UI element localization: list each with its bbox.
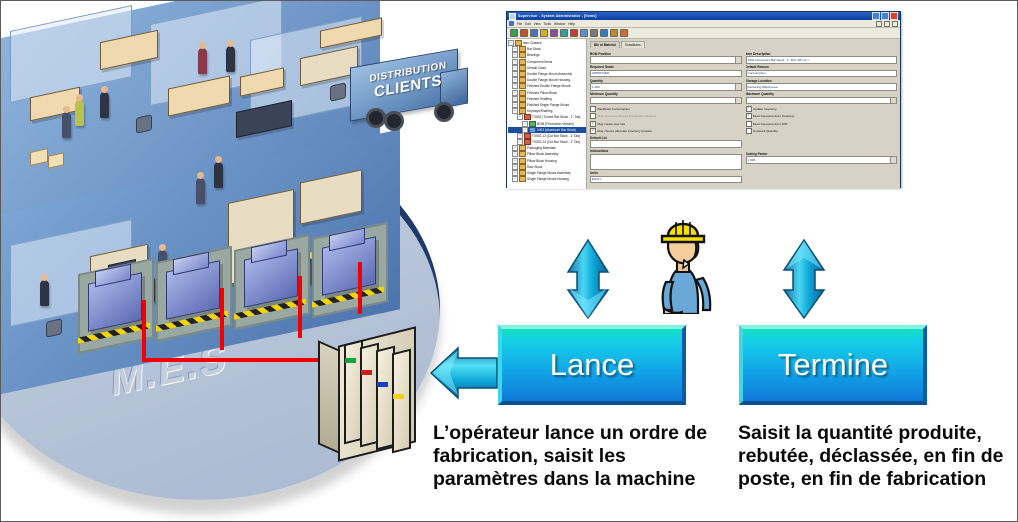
- tree-expander-icon[interactable]: +: [512, 52, 518, 58]
- tree-item-label: 1002 (Aluminum Bar Stock): [537, 128, 576, 132]
- toolbar-report-icon[interactable]: [610, 29, 618, 37]
- network-line-2: [220, 288, 224, 350]
- erp-menu-bar[interactable]: File Edit View Tools Window Help: [507, 20, 900, 28]
- launch-button[interactable]: Lance: [498, 325, 686, 405]
- tree-expander-icon[interactable]: +: [512, 158, 518, 164]
- tree-item-label: Finished Shafting: [527, 97, 552, 101]
- text-input[interactable]: 1002 (Aluminum Bar Stock - 1" DIA. 48' L…: [746, 56, 898, 64]
- menu-item-edit[interactable]: Edit: [525, 22, 531, 26]
- tree-expander-icon[interactable]: +: [512, 65, 518, 71]
- maximize-icon[interactable]: [881, 12, 889, 20]
- field-label: Units: [590, 171, 742, 175]
- caption-finish: Saisit la quantité produite, rebutée, dé…: [738, 422, 1016, 491]
- spinner-icon[interactable]: [735, 84, 741, 90]
- toolbar-print-icon[interactable]: [540, 29, 548, 37]
- menu-item-help[interactable]: Help: [568, 22, 575, 26]
- tab-substitutes[interactable]: Substitutes: [621, 41, 645, 48]
- input-value: APPROVED: [592, 71, 609, 75]
- tree-expander-icon[interactable]: +: [512, 145, 518, 151]
- text-input[interactable]: 1.000: [746, 156, 898, 164]
- tree-expander-icon[interactable]: +: [517, 139, 523, 145]
- tree-item-label: TX502-24 (Cut Bar Stock - 1" Dia): [532, 140, 580, 144]
- tree-expander-icon[interactable]: +: [512, 108, 518, 114]
- folder-icon: [519, 71, 526, 77]
- folder-icon: [519, 65, 526, 71]
- text-input[interactable]: [590, 97, 742, 105]
- checkbox-icon[interactable]: [746, 128, 752, 134]
- folder-icon: [519, 102, 526, 108]
- bom-icon: [529, 121, 536, 127]
- form-spacer: [746, 134, 898, 150]
- server-led-green: [345, 358, 356, 363]
- text-input[interactable]: Receiving Warehouse: [746, 83, 898, 91]
- toolbar-help-icon[interactable]: [620, 29, 628, 37]
- checkbox-row[interactable]: ✓Update Inventory: [746, 106, 898, 112]
- menu-app-icon: [509, 21, 514, 26]
- field-label: Minimum Quantity: [590, 92, 742, 96]
- bom-detail-form: Bill of Material Substitutes BOM Positio…: [587, 39, 900, 189]
- tree-item-label: Raw Stock: [527, 165, 542, 169]
- checkbox-icon[interactable]: [746, 121, 752, 127]
- checkbox-label: Must Consume Before Production Allowed: [598, 114, 656, 118]
- person-office-1: [198, 48, 207, 74]
- menu-item-window[interactable]: Window: [554, 22, 565, 26]
- tree-expander-icon[interactable]: +: [512, 90, 518, 96]
- folder-icon: [519, 108, 526, 114]
- tree-expander-icon[interactable]: +: [512, 83, 518, 89]
- field-label: Scaling Factor: [746, 152, 898, 156]
- arrow-down-icon: [566, 238, 610, 320]
- tree-item-label: Component Items: [527, 60, 552, 64]
- tree-expander-icon[interactable]: +: [512, 102, 518, 108]
- truck-wheel-3: [434, 102, 454, 122]
- text-input[interactable]: [590, 154, 742, 170]
- tree-item-label: Default Class: [527, 66, 546, 70]
- tree-expander-icon[interactable]: +: [517, 133, 523, 139]
- network-line-4: [358, 262, 362, 314]
- worker-operator-icon: [648, 202, 718, 314]
- arrow-left-icon: [428, 344, 500, 402]
- toolbar-open-icon[interactable]: [520, 29, 528, 37]
- minimize-icon[interactable]: [872, 12, 880, 20]
- folder-icon: [519, 145, 526, 151]
- component-icon: [529, 127, 536, 133]
- server-led-blue: [377, 382, 388, 387]
- server-blade-4: [392, 349, 411, 454]
- tree-expander-icon[interactable]: +: [512, 59, 518, 65]
- mdi-close-icon[interactable]: [892, 21, 898, 27]
- checkbox-row[interactable]: ✓May choose alternate inventory location: [590, 128, 742, 134]
- checkbox-icon[interactable]: ✓: [590, 128, 596, 134]
- folder-icon: [515, 40, 522, 46]
- toolbar-new-icon[interactable]: [510, 29, 518, 37]
- tree-item-label: TX502 (Turned Bar Stock - 1" Dia): [532, 115, 581, 119]
- checkbox-icon[interactable]: ✓: [590, 121, 596, 127]
- spinner-icon[interactable]: [735, 98, 741, 104]
- folder-icon: [519, 96, 526, 102]
- spinner-icon[interactable]: [890, 157, 896, 163]
- text-input[interactable]: Consumption: [746, 70, 898, 78]
- person-production-8: [214, 162, 223, 188]
- network-line-1: [142, 300, 146, 362]
- truck-wheel-1: [366, 108, 386, 128]
- field-label: Default Reason: [746, 65, 898, 69]
- erp-title-text: Supervisor - System Administrator - [Ite…: [518, 14, 597, 18]
- input-value: EACH: [592, 177, 601, 181]
- erp-content-area: +Item Classes+Bar Stock+Bearings+Compone…: [507, 39, 900, 189]
- item-icon: [524, 114, 531, 120]
- spinner-icon[interactable]: [735, 57, 741, 63]
- tree-expander-icon[interactable]: +: [512, 77, 518, 83]
- field-label: Quantity: [590, 79, 742, 83]
- folder-icon: [519, 158, 526, 164]
- toolbar-find-icon[interactable]: [580, 29, 588, 37]
- tree-item-label: Bar Stock: [527, 47, 541, 51]
- item-icon: [524, 133, 531, 139]
- erp-application-window[interactable]: Supervisor - System Administrator - [Ite…: [506, 11, 901, 188]
- folder-icon: [519, 59, 526, 65]
- folder-icon: [519, 176, 526, 182]
- folder-icon: [519, 83, 526, 89]
- close-icon[interactable]: [890, 12, 898, 20]
- checkbox-icon[interactable]: [590, 113, 596, 119]
- toolbar-grid-icon[interactable]: [600, 29, 608, 37]
- item-icon: [524, 139, 531, 145]
- tree-item-label: Packaging Materials: [527, 146, 556, 150]
- server-led-red: [361, 370, 372, 375]
- tree-item-label: Finished Single Flange Mount: [527, 103, 569, 107]
- caption-launch: L’opérateur lance un ordre de fabricatio…: [433, 422, 723, 491]
- input-value: Receiving Warehouse: [748, 85, 778, 89]
- mdi-restore-icon[interactable]: [884, 21, 890, 27]
- text-input[interactable]: APPROVED: [590, 70, 742, 78]
- person-office-2: [226, 46, 235, 72]
- menu-item-file[interactable]: File: [517, 22, 522, 26]
- form-columns: BOM PositionRequired GradeAPPROVEDQuanti…: [590, 50, 897, 183]
- truck-wheel-2: [384, 111, 404, 131]
- person-office-5: [100, 92, 109, 118]
- tree-expander-icon[interactable]: +: [512, 176, 518, 182]
- mdi-window-controls[interactable]: [876, 21, 898, 27]
- folder-icon: [519, 170, 526, 176]
- window-controls[interactable]: [872, 12, 898, 20]
- form-column-left: BOM PositionRequired GradeAPPROVEDQuanti…: [590, 50, 742, 183]
- tree-item-label: Pillow Block Housing: [527, 159, 557, 163]
- checkbox-row[interactable]: ✓May create new lots: [590, 121, 742, 127]
- person-production-7: [196, 178, 205, 204]
- tree-expander-icon[interactable]: +: [512, 71, 518, 77]
- toolbar-paste-icon[interactable]: [560, 29, 568, 37]
- field-label: Item Description: [746, 52, 898, 56]
- tree-expander-icon[interactable]: +: [512, 164, 518, 170]
- erp-toolbar[interactable]: [507, 28, 900, 39]
- checkbox-label: Must Consume from Inventory: [753, 114, 794, 118]
- tree-item-label: Finished Pillow Block: [527, 91, 557, 95]
- tree-expander-icon[interactable]: +: [522, 127, 528, 133]
- tree-expander-icon[interactable]: +: [512, 46, 518, 52]
- checkbox-row[interactable]: Must Consume from WIP: [746, 121, 898, 127]
- checkbox-row[interactable]: Must Consume Before Production Allowed: [590, 113, 742, 119]
- tree-item-label: BOM (Production Version): [537, 122, 574, 126]
- tree-item-label: Finished Double Flange Mount: [527, 84, 570, 88]
- checkbox-row[interactable]: ✓Must Consume from Inventory: [746, 113, 898, 119]
- tree-expander-icon[interactable]: +: [512, 151, 518, 157]
- tree-item-label: Keyways/Shafting: [527, 109, 552, 113]
- tree-item-label: Single Flange Mount Housing: [527, 177, 569, 181]
- tree-expander-icon[interactable]: +: [512, 170, 518, 176]
- checkbox-label: May create new lots: [598, 122, 626, 126]
- folder-icon: [519, 151, 526, 157]
- folder-icon: [519, 46, 526, 52]
- toolbar-refresh-icon[interactable]: [590, 29, 598, 37]
- input-value: 1.000: [592, 85, 600, 89]
- checkbox-label: Must Consume from WIP: [753, 122, 788, 126]
- tree-expander-icon[interactable]: +: [517, 114, 523, 120]
- tree-item[interactable]: +Single Flange Mount Housing: [508, 176, 586, 182]
- input-value: 1.000: [748, 158, 756, 162]
- field-label: Instructions: [590, 149, 742, 153]
- form-tab-strip[interactable]: Bill of Material Substitutes: [590, 41, 897, 48]
- checkbox-label: Update Inventory: [753, 107, 777, 111]
- toolbar-save-icon[interactable]: [530, 29, 538, 37]
- input-value: 1002 (Aluminum Bar Stock - 1" DIA. 48' L…: [748, 58, 809, 62]
- menu-item-tools[interactable]: Tools: [544, 22, 551, 26]
- tree-expander-icon[interactable]: +: [508, 40, 514, 46]
- item-class-tree[interactable]: +Item Classes+Bar Stock+Bearings+Compone…: [507, 39, 587, 189]
- field-label: Default Lot: [590, 136, 742, 140]
- checkbox-label: May choose alternate inventory location: [598, 129, 653, 133]
- arrow-up-icon: [782, 238, 826, 320]
- folder-icon: [519, 52, 526, 58]
- person-production-4: [40, 280, 49, 306]
- tree-expander-icon[interactable]: +: [522, 121, 528, 127]
- checkbox-row[interactable]: Backflush Consumption: [590, 106, 742, 112]
- network-line-3: [298, 276, 302, 338]
- input-value: Consumption: [748, 71, 766, 75]
- mes-factory-illustration: M.E.S: [0, 0, 470, 522]
- menu-item-view[interactable]: View: [534, 22, 541, 26]
- slide-canvas: M.E.S: [0, 0, 1018, 522]
- mes-server-rack: [318, 336, 414, 458]
- toolbar-copy-icon[interactable]: [550, 29, 558, 37]
- launch-button-label: Lance: [550, 347, 634, 383]
- text-input[interactable]: [590, 56, 742, 64]
- finish-button[interactable]: Termine: [739, 325, 927, 405]
- tree-item-label: TX502-12 (Cut Bar Stock - 1" Dia): [532, 134, 580, 138]
- person-office-3: [75, 100, 84, 126]
- checkbox-label: Constant Quantity: [753, 129, 778, 133]
- form-column-right: Item Description1002 (Aluminum Bar Stock…: [746, 50, 898, 183]
- field-label: Storage Location: [746, 79, 898, 83]
- server-led-yellow: [393, 394, 404, 399]
- field-label: Required Grade: [590, 65, 742, 69]
- spinner-icon[interactable]: [890, 98, 896, 104]
- field-label: Maximum Quantity: [746, 92, 898, 96]
- text-input[interactable]: 1.000: [590, 83, 742, 91]
- tree-item-label: Double Flange Mount Assembly: [527, 72, 572, 76]
- folder-icon: [519, 77, 526, 83]
- checkbox-icon[interactable]: [590, 106, 596, 112]
- checkbox-icon[interactable]: ✓: [746, 113, 752, 119]
- text-input[interactable]: [746, 97, 898, 105]
- tree-item-label: Bearings: [527, 53, 540, 57]
- text-input[interactable]: EACH: [590, 176, 742, 184]
- tree-item-label: Item Classes: [523, 41, 541, 45]
- text-input[interactable]: [590, 140, 742, 148]
- person-office-4: [62, 112, 71, 138]
- tree-expander-icon[interactable]: +: [512, 96, 518, 102]
- folder-icon: [519, 90, 526, 96]
- tree-item-label: Double Flange Mount Housing: [527, 78, 570, 82]
- tree-item-label: Pillow Block Assembly: [527, 152, 559, 156]
- tree-item-label: Single Flange Mount Assembly: [527, 171, 571, 175]
- checkbox-label: Backflush Consumption: [598, 107, 631, 111]
- mdi-minimize-icon[interactable]: [876, 21, 882, 27]
- app-icon: [509, 13, 516, 20]
- folder-icon: [519, 164, 526, 170]
- finish-button-label: Termine: [778, 347, 888, 383]
- field-label: BOM Position: [590, 52, 742, 56]
- erp-title-bar[interactable]: Supervisor - System Administrator - [Ite…: [507, 12, 900, 20]
- checkbox-icon[interactable]: ✓: [746, 106, 752, 112]
- tab-bill-of-material[interactable]: Bill of Material: [590, 41, 620, 48]
- distribution-truck: DISTRIBUTION CLIENTS: [336, 52, 468, 130]
- toolbar-delete-icon[interactable]: [570, 29, 578, 37]
